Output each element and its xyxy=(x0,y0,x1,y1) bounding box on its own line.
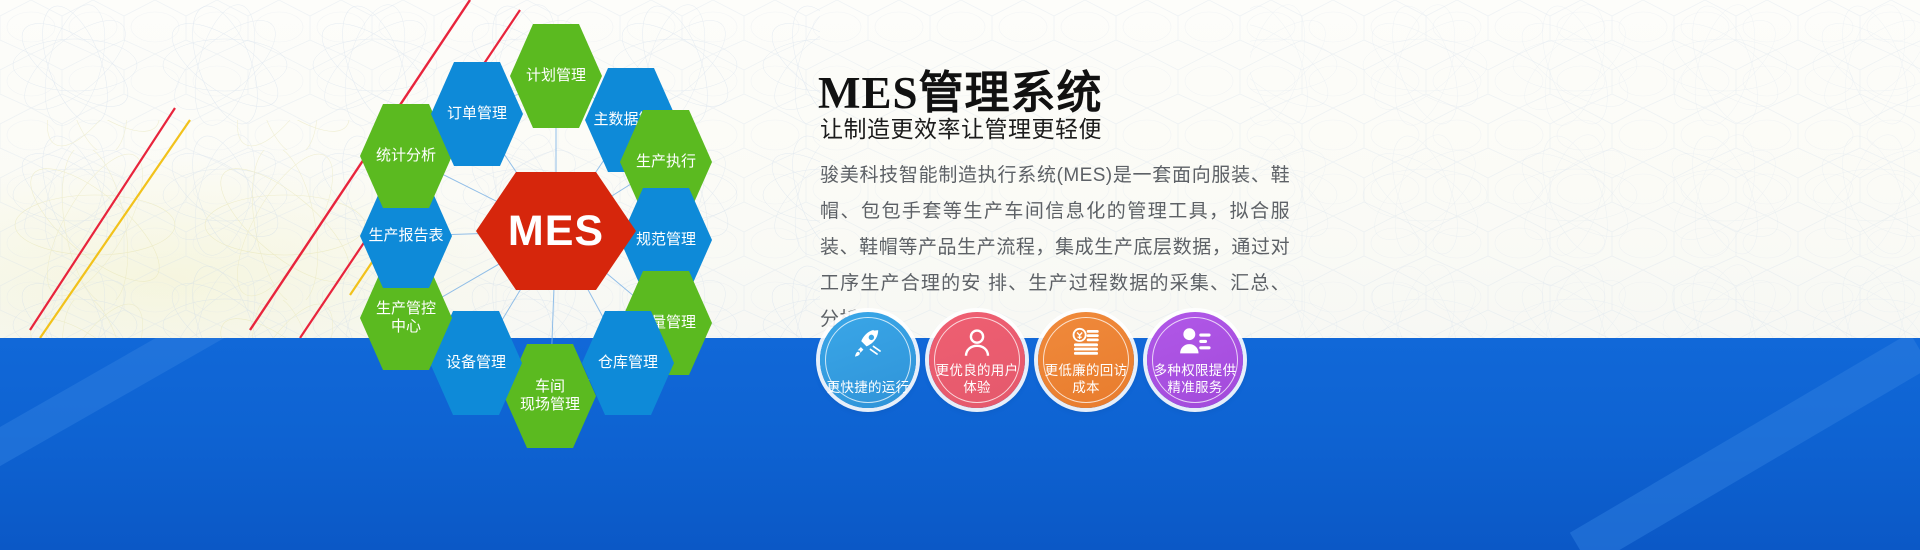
badge-label: 更快捷的运行 xyxy=(821,379,915,408)
hex-center-label: MES xyxy=(502,206,610,257)
rocket-icon xyxy=(820,325,916,361)
hex-node-label: 生产管控中心 xyxy=(370,300,442,335)
feature-badge-list: 更快捷的运行 更优良的用户体验 更低廉的回访成本 xyxy=(820,300,1280,410)
badge-label: 多种权限提供精准服务 xyxy=(1148,362,1242,408)
mes-hexagon-diagram: 计划管理主数据管理生产执行规范管理质量管理仓库管理车间现场管理设备管理生产管控中… xyxy=(330,0,800,450)
badge-label: 更低廉的回访成本 xyxy=(1039,362,1133,408)
hex-node-label: 计划管理 xyxy=(520,67,592,85)
hex-node-label: 车间现场管理 xyxy=(514,378,586,413)
hex-node-label: 订单管理 xyxy=(441,105,513,123)
hex-node-label: 生产报告表 xyxy=(362,227,449,245)
banner-text-column: MES管理系统 让制造更效率让管理更轻便 骏美科技智能制造执行系统(MES)是一… xyxy=(812,0,1912,550)
page-subtitle: 让制造更效率让管理更轻便 xyxy=(820,110,1102,144)
hex-node-label: 仓库管理 xyxy=(592,354,664,372)
hex-node-label: 统计分析 xyxy=(370,147,442,165)
hex-node-label: 生产执行 xyxy=(630,153,702,171)
hex-node-label: 设备管理 xyxy=(440,354,512,372)
feature-badge-3[interactable]: 更低廉的回访成本 xyxy=(1038,312,1134,408)
hex-node-label: 规范管理 xyxy=(630,231,702,249)
money-stack-icon xyxy=(1038,325,1134,359)
feature-badge-4[interactable]: 多种权限提供精准服务 xyxy=(1147,312,1243,408)
user-icon xyxy=(929,325,1025,361)
feature-badge-1[interactable]: 更快捷的运行 xyxy=(820,312,916,408)
feature-badge-2[interactable]: 更优良的用户体验 xyxy=(929,312,1025,408)
user-list-icon xyxy=(1147,325,1243,359)
mes-banner: 计划管理主数据管理生产执行规范管理质量管理仓库管理车间现场管理设备管理生产管控中… xyxy=(0,0,1920,550)
badge-label: 更优良的用户体验 xyxy=(930,362,1024,408)
